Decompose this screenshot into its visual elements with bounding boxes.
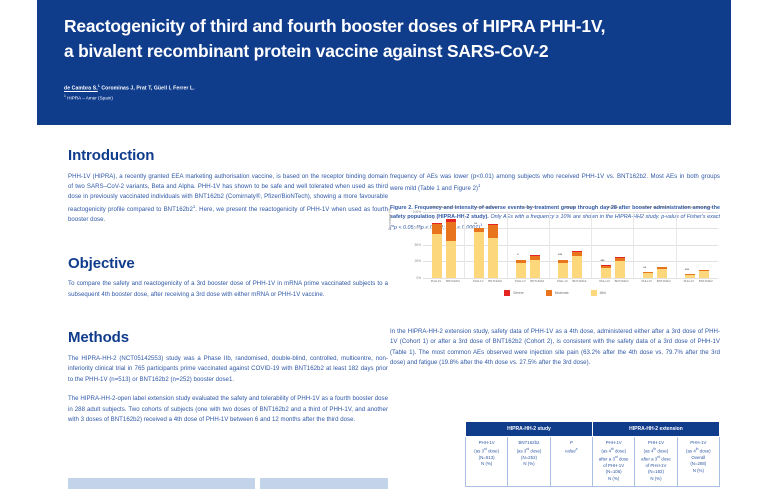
affiliation-text: HIPRA – Amer (Spain) xyxy=(67,96,113,101)
author-list: de Cambra S,1 Corominas J, Prat T, Güell… xyxy=(64,84,684,93)
chart-x-tick-label: BNT162b2 xyxy=(699,279,711,287)
chart-y-axis-ticks: 0%25%50%75%100% xyxy=(400,212,422,278)
chart-bar-segment-mild xyxy=(516,263,526,278)
introduction-heading: Introduction xyxy=(68,148,388,165)
chart-bar xyxy=(432,212,442,278)
section-spacer-2 xyxy=(68,309,388,330)
chart-bar xyxy=(657,212,667,278)
chart-group: Injection site pain** xyxy=(465,212,507,278)
table-1-header-line: N (%) xyxy=(680,468,717,475)
section-spacer xyxy=(68,235,388,256)
chart-x-group: PHH-1VBNT162b2 xyxy=(423,279,465,287)
table-1-column-header: PHH-1V(as 4th dose)after a 3rd doseof PH… xyxy=(635,437,677,487)
table-1-head: HIPRA-HH-2 studyHIPRA-HH-2 extension PHH… xyxy=(466,422,720,487)
chart-y-tick: 75% xyxy=(415,226,421,230)
objective-paragraph: To compare the safety and reactogenicity… xyxy=(68,279,388,300)
chart-legend-item: Mild xyxy=(591,290,606,296)
right-column: frequency of AEs was lower (p<0.01) amon… xyxy=(390,148,720,378)
chart-group: Total Adverse events* xyxy=(423,212,465,278)
chart-bar-segment-mild xyxy=(446,241,456,278)
table-1-header-line: (N=513) xyxy=(468,455,505,462)
chart-x-tick-label: BNT162b2 xyxy=(657,279,669,287)
table-1-header-line: (as 3rd dose) xyxy=(510,447,547,455)
chart-significance-marker: *** xyxy=(677,269,698,272)
left-table-header-cell-b xyxy=(260,478,388,489)
title-line-2: a bivalent recombinant protein vaccine a… xyxy=(64,39,704,64)
chart-group: Injection site duration** xyxy=(634,212,676,278)
results-top-paragraph: frequency of AEs was lower (p<0.01) amon… xyxy=(390,172,720,195)
chart-x-tick-label: BNT162b2 xyxy=(572,279,584,287)
chart-group-label: Myalgia xyxy=(592,205,633,209)
chart-bar-segment-moderate xyxy=(446,222,456,241)
methods-paragraph-1: The HIPRA-HH-2 (NCT05142553) study was a… xyxy=(68,354,388,385)
table-1-header-line: of PHH-1V xyxy=(637,463,674,470)
table-1-header-line: P xyxy=(553,440,590,447)
table-1-header-line: N (%) xyxy=(510,461,547,468)
chart-bar-segment-mild xyxy=(601,268,611,278)
figure-2: Percentage (%) 0%25%50%75%100% Total Adv… xyxy=(390,204,720,314)
chart-bar-segment-mild xyxy=(657,269,667,278)
chart-x-group: PHH-1VBNT162b2 xyxy=(507,279,549,287)
table-1-column-header: PHH-1V(as 3rd dose)(N=513)N (%) xyxy=(466,437,508,487)
table-1-band-header: HIPRA-HH-2 study xyxy=(466,422,593,437)
extension-paragraph: In the HIPRA-HH-2 extension study, safet… xyxy=(390,327,720,369)
chart-significance-marker: *** xyxy=(550,254,571,257)
results-top-ref: 1 xyxy=(478,183,480,188)
chart-x-group: PHH-1VBNT162b2 xyxy=(465,279,507,287)
chart-legend-swatch xyxy=(546,290,552,296)
author-affil-marker: 1 xyxy=(98,84,100,88)
chart-legend-label: Mild xyxy=(600,291,606,295)
chart-x-tick-label: PHH-1V xyxy=(599,279,611,287)
chart-x-tick-label: BNT162b2 xyxy=(488,279,500,287)
chart-bar-segment-mild xyxy=(474,232,484,278)
chart-bar-segment-mild xyxy=(615,261,625,278)
chart-bar-segment-mild xyxy=(558,263,568,278)
chart-group: Myalgia*** xyxy=(592,212,634,278)
methods-heading: Methods xyxy=(68,330,388,347)
table-1-header-line: (N=182) xyxy=(637,469,674,476)
introduction-text: PHH-1V (HIPRA), a recently granted EEA m… xyxy=(68,173,388,213)
chart-group-label: Fatigue xyxy=(550,205,591,209)
stacked-bar-chart: Percentage (%) 0%25%50%75%100% Total Adv… xyxy=(390,204,720,292)
table-1-header-line: (as 4th dose) xyxy=(595,447,632,455)
chart-bar xyxy=(488,212,498,278)
chart-legend-item: Moderate xyxy=(546,290,569,296)
chart-group: Injection site erythema*** xyxy=(677,212,718,278)
chart-legend-label: Moderate xyxy=(555,291,569,295)
chart-legend-swatch xyxy=(504,290,510,296)
title-line-1: Reactogenicity of third and fourth boost… xyxy=(64,16,605,36)
chart-bar-segment-mild xyxy=(488,238,498,278)
chart-y-tick: 100% xyxy=(413,210,421,214)
table-1-grid: HIPRA-HH-2 studyHIPRA-HH-2 extension PHH… xyxy=(465,421,720,487)
chart-legend-item: Severe xyxy=(504,290,523,296)
table-1-column-header: BNT162b2(as 3rd dose)(N=252)N (%) xyxy=(508,437,550,487)
table-1-header-line: N (%) xyxy=(468,461,505,468)
results-top-text: frequency of AEs was lower (p<0.01) amon… xyxy=(390,173,720,193)
table-1-header-line: valuea xyxy=(553,447,590,455)
chart-significance-marker: ** xyxy=(465,223,486,226)
chart-y-tick: 25% xyxy=(415,259,421,263)
methods-paragraph-2: The HIPRA-HH-2-open label extension stud… xyxy=(68,394,388,425)
chart-y-tick: 0% xyxy=(416,276,421,280)
table-1-band-header-row: HIPRA-HH-2 studyHIPRA-HH-2 extension xyxy=(466,422,720,437)
chart-bar xyxy=(615,212,625,278)
table-1-column-header: PHH-1V(as 4th dose)Overall(N=288)N (%) xyxy=(677,437,719,487)
chart-group: Fatigue*** xyxy=(550,212,592,278)
chart-bar xyxy=(558,212,568,278)
table-1-column-header: PHH-1V(as 4th dose)after a 3rd doseof PH… xyxy=(592,437,634,487)
chart-bar-segment-mild xyxy=(572,256,582,278)
table-1-header-line: PHH-1V xyxy=(595,440,632,447)
right-column-top-spacer xyxy=(390,148,720,172)
introduction-ref: 1 xyxy=(193,204,195,209)
affiliation: 1 HIPRA – Amer (Spain) xyxy=(64,94,113,102)
table-1-header-line: after a 3rd dose xyxy=(637,455,674,463)
chart-x-tick-label: PHH-1V xyxy=(556,279,568,287)
chart-bar-segment-mild xyxy=(432,234,442,278)
chart-group: Headache* xyxy=(508,212,550,278)
table-1-header-line: BNT162b2 xyxy=(510,440,547,447)
chart-group-label: Injection site duration xyxy=(634,205,675,209)
chart-bar xyxy=(572,212,582,278)
chart-bar-segment-mild xyxy=(699,271,709,278)
chart-bar-segment-mild xyxy=(643,273,653,278)
chart-x-tick-label: BNT162b2 xyxy=(530,279,542,287)
table-1-header-line: PHH-1V xyxy=(637,440,674,447)
chart-legend: SevereModerateMild xyxy=(390,288,720,298)
chart-bar-segment-mild xyxy=(530,260,540,278)
chart-significance-marker: ** xyxy=(634,267,655,270)
chart-x-group: PHH-1VBNT162b2 xyxy=(676,279,718,287)
chart-x-group: PHH-1VBNT162b2 xyxy=(634,279,676,287)
chart-significance-marker: * xyxy=(508,254,529,257)
table-1-header-line: (N=288) xyxy=(680,461,717,468)
chart-plot-area: Total Adverse events*Injection site pain… xyxy=(423,212,718,278)
chart-bar xyxy=(446,212,456,278)
left-table-header-strip xyxy=(68,478,388,489)
table-1-header-line: after a 3rd dose xyxy=(595,455,632,463)
chart-x-tick-label: PHH-1V xyxy=(641,279,653,287)
figure-text-spacer xyxy=(390,314,720,327)
chart-x-tick-label: BNT162b2 xyxy=(446,279,458,287)
table-1-column-header-row: PHH-1V(as 3rd dose)(N=513)N (%)BNT162b2(… xyxy=(466,437,720,487)
chart-x-group: PHH-1VBNT162b2 xyxy=(592,279,634,287)
chart-legend-swatch xyxy=(591,290,597,296)
chart-group-label: Total Adverse events xyxy=(423,205,464,209)
author-rest: Corominas J, Prat T, Güell I, Ferrer L. xyxy=(101,86,194,92)
introduction-paragraph: PHH-1V (HIPRA), a recently granted EEA m… xyxy=(68,172,388,226)
table-1-header-line: (N=106) xyxy=(595,469,632,476)
left-column: Introduction PHH-1V (HIPRA), a recently … xyxy=(68,148,388,435)
chart-bar xyxy=(516,212,526,278)
table-1-header-line: PHH-1V xyxy=(680,440,717,447)
table-1-header-line: of PHH-1V xyxy=(595,463,632,470)
author-lead: de Cambra S, xyxy=(64,86,98,92)
poster-page: Reactogenicity of third and fourth boost… xyxy=(0,0,768,489)
table-1: HIPRA-HH-2 studyHIPRA-HH-2 extension PHH… xyxy=(465,421,720,487)
table-1-header-line: (as 4th dose) xyxy=(637,447,674,455)
affiliation-marker: 1 xyxy=(64,94,66,98)
table-1-column-header: Pvaluea xyxy=(550,437,592,487)
objective-heading: Objective xyxy=(68,256,388,273)
poster-header-banner: Reactogenicity of third and fourth boost… xyxy=(37,0,731,125)
chart-bar xyxy=(601,212,611,278)
chart-x-tick-label: PHH-1V xyxy=(430,279,442,287)
chart-significance-marker: *** xyxy=(592,260,613,263)
table-1-header-line: PHH-1V xyxy=(468,440,505,447)
chart-bar-segment-mild xyxy=(685,275,695,278)
table-1-header-line: (N=252) xyxy=(510,455,547,462)
chart-group-label: Injection site erythema xyxy=(677,205,718,209)
chart-x-tick-label: BNT162b2 xyxy=(615,279,627,287)
chart-significance-marker: * xyxy=(423,218,444,221)
table-1-header-line: (as 4th dose) xyxy=(680,447,717,455)
chart-x-group: PHH-1VBNT162b2 xyxy=(549,279,591,287)
chart-bar-segment-moderate xyxy=(488,225,498,238)
chart-groups: Total Adverse events*Injection site pain… xyxy=(423,212,718,278)
table-1-header-line: N (%) xyxy=(595,476,632,483)
chart-x-tick-label: PHH-1V xyxy=(683,279,695,287)
chart-x-tick-label: PHH-1V xyxy=(472,279,484,287)
chart-group-label: Headache xyxy=(508,205,549,209)
chart-bar xyxy=(699,212,709,278)
table-1-band-header: HIPRA-HH-2 extension xyxy=(592,422,719,437)
table-1-header-line: (as 3rd dose) xyxy=(468,447,505,455)
chart-legend-label: Severe xyxy=(513,291,523,295)
left-table-header-cell-a xyxy=(68,478,255,489)
chart-x-tick-label: PHH-1V xyxy=(514,279,526,287)
chart-y-axis-label: Percentage (%) xyxy=(388,208,392,230)
chart-y-tick: 50% xyxy=(415,243,421,247)
chart-bar-segment-moderate xyxy=(432,224,442,234)
chart-x-axis-labels: PHH-1VBNT162b2PHH-1VBNT162b2PHH-1VBNT162… xyxy=(423,279,718,287)
chart-bar xyxy=(530,212,540,278)
table-1-header-line: N (%) xyxy=(637,476,674,483)
table-1-header-line: Overall xyxy=(680,455,717,462)
page-title: Reactogenicity of third and fourth boost… xyxy=(64,14,704,63)
chart-group-label: Injection site pain xyxy=(465,205,506,209)
